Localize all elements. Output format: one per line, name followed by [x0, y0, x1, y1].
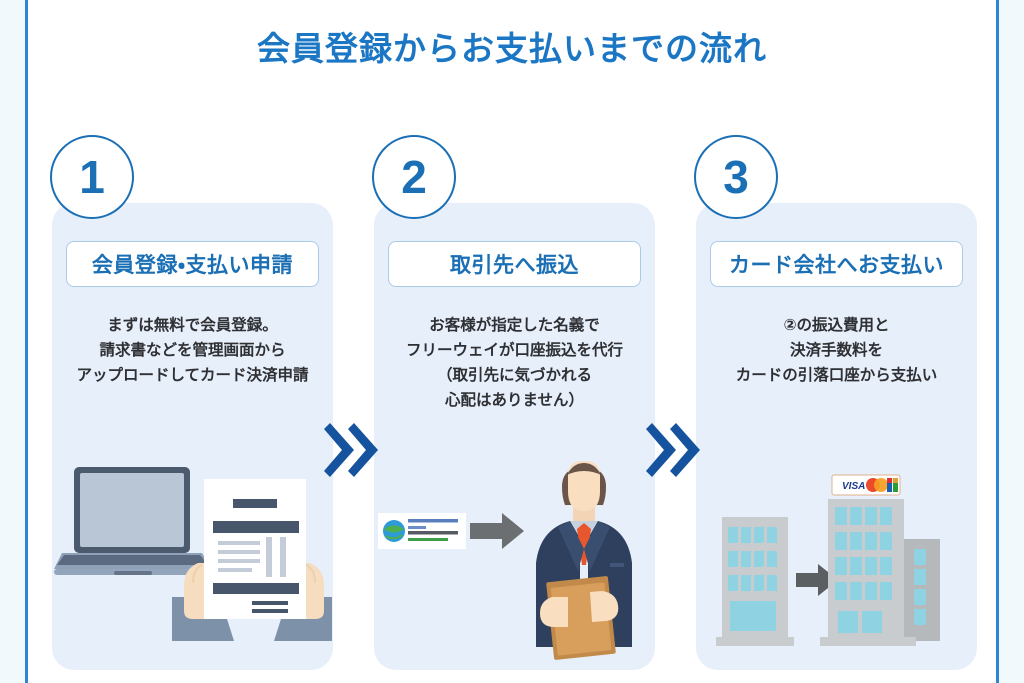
- infographic-page: 会員登録からお支払いまでの流れ 1 会員登録・支払い申請 まずは無料で会員登録。…: [0, 0, 1024, 683]
- step-2-number-badge: 2: [372, 135, 456, 219]
- side-tower-icon: [902, 539, 940, 641]
- right-edge-rule: [996, 0, 999, 683]
- businessman-icon: [536, 461, 632, 660]
- step-1: 1 会員登録・支払い申請 まずは無料で会員登録。 請求書などを管理画面から アッ…: [52, 135, 333, 675]
- right-edge-strip: [998, 0, 1024, 683]
- gray-arrow-icon: [470, 513, 524, 549]
- freeway-logo-arrow-businessman-illustration: [374, 445, 655, 675]
- small-building-icon: [716, 517, 794, 646]
- card-brand-sign-icon: VISA: [832, 475, 900, 495]
- svg-text:VISA: VISA: [842, 481, 865, 492]
- step-3-label: カード会社へお支払い: [710, 241, 963, 287]
- step-3-number-badge: 3: [694, 135, 778, 219]
- step-1-number-badge: 1: [50, 135, 134, 219]
- step-2-label: 取引先へ振込: [388, 241, 641, 287]
- page-title: 会員登録からお支払いまでの流れ: [0, 22, 1024, 70]
- step-3: 3 カード会社へお支払い ②の振込費用と 決済手数料を カードの引落口座から支払…: [696, 135, 977, 675]
- buildings-card-company-illustration: VISA: [696, 445, 977, 675]
- freeway-logo-icon: [378, 513, 466, 549]
- card-company-building-icon: [820, 499, 916, 646]
- chevron-connector-2-3: [642, 423, 702, 477]
- chevron-connector-1-2: [320, 423, 380, 477]
- step-1-description: まずは無料で会員登録。 請求書などを管理画面から アップロードしてカード決済申請: [58, 313, 327, 388]
- left-edge-strip: [0, 0, 26, 683]
- invoice-document-icon: [204, 479, 306, 619]
- step-2: 2 取引先へ振込 お客様が指定した名義で フリーウェイが口座振込を代行 （取引先…: [374, 135, 655, 675]
- left-edge-rule: [25, 0, 28, 683]
- step-2-description: お客様が指定した名義で フリーウェイが口座振込を代行 （取引先に気づかれる 心配…: [380, 313, 649, 413]
- laptop-and-invoice-illustration: [52, 445, 333, 675]
- step-1-label: 会員登録・支払い申請: [66, 241, 319, 287]
- laptop-icon: [54, 467, 212, 575]
- steps-container: 1 会員登録・支払い申請 まずは無料で会員登録。 請求書などを管理画面から アッ…: [52, 135, 977, 675]
- step-3-description: ②の振込費用と 決済手数料を カードの引落口座から支払い: [702, 313, 971, 388]
